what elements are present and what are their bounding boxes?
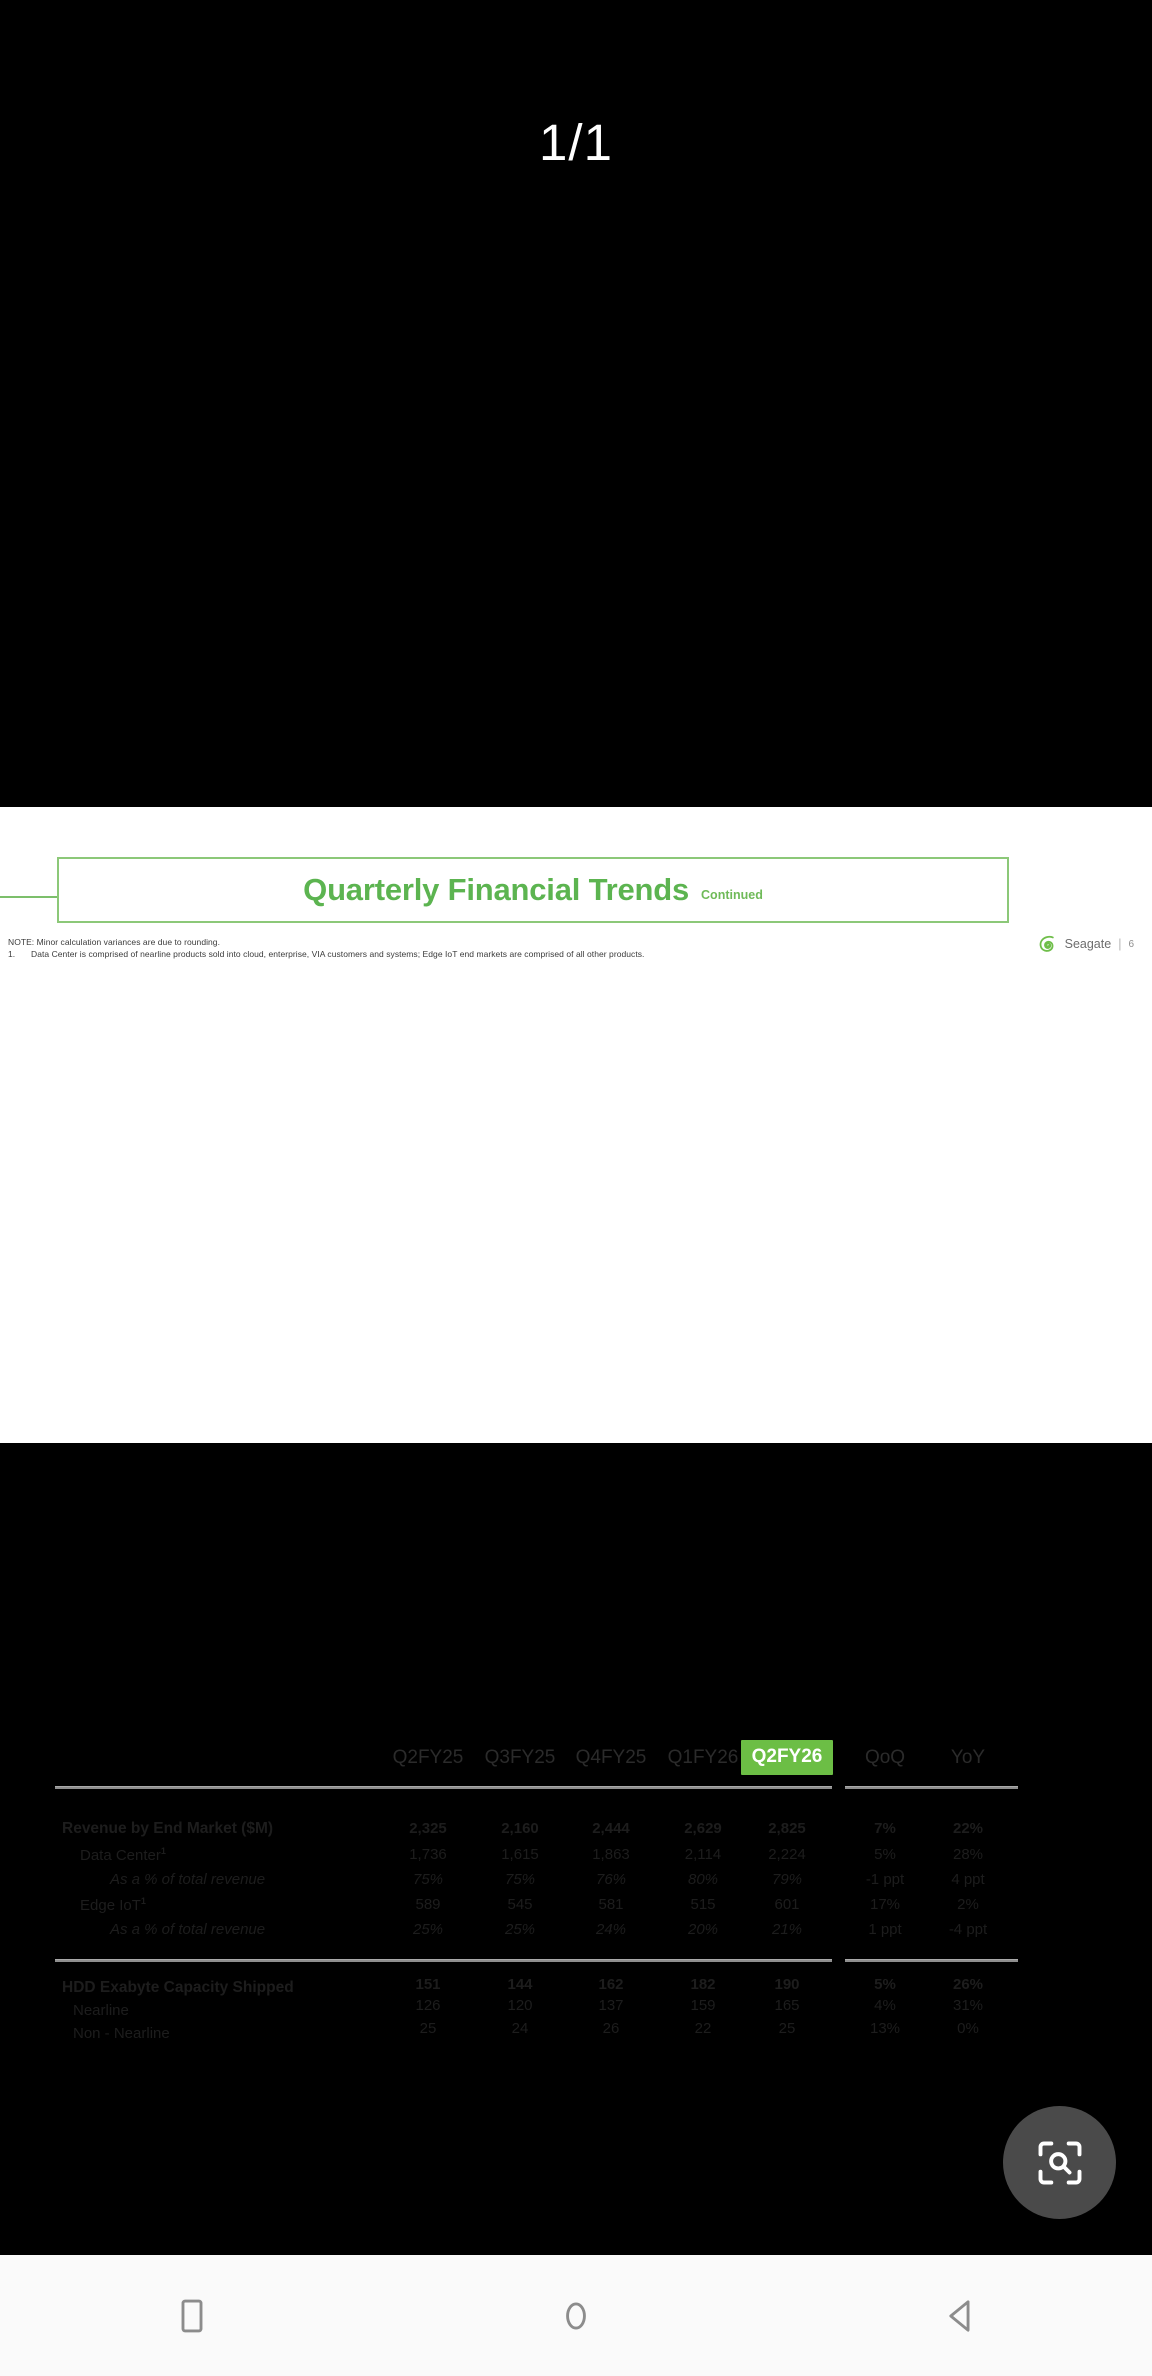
row-label-dc-pct-of-revenue: As a % of total revenue — [110, 1871, 265, 1888]
cell-non-nearline-qoq: 13% — [845, 2020, 925, 2037]
column-header-q2fy26: Q2FY26 — [741, 1740, 833, 1775]
brand-name: Seagate — [1065, 937, 1112, 951]
row-label-iot-pct-of-revenue: As a % of total revenue — [110, 1921, 265, 1938]
cell-iot-pct-q3fy25: 25% — [477, 1921, 563, 1938]
row-label-edge-iot: Edge IoT1 — [80, 1896, 146, 1914]
cell-nearline-q4fy25: 137 — [568, 1997, 654, 2014]
brand-footer: Seagate | 6 — [1036, 933, 1134, 955]
cell-iot-pct-q4fy25: 24% — [568, 1921, 654, 1938]
cell-data-center-q4fy25: 1,863 — [568, 1846, 654, 1863]
footnote-text: Data Center is comprised of nearline pro… — [31, 949, 644, 959]
slide-page[interactable]: Quarterly Financial Trends Continued Q2F… — [0, 807, 1152, 1443]
cell-non-nearline-q2fy25: 25 — [385, 2020, 471, 2037]
header-rule-left — [55, 1786, 832, 1789]
cell-edge-iot-yoy: 2% — [928, 1896, 1008, 1913]
cell-non-nearline-yoy: 0% — [928, 2020, 1008, 2037]
column-header-q3fy25: Q3FY25 — [477, 1747, 563, 1769]
footnote-marker-2: 1 — [141, 1896, 146, 1906]
column-header-yoy: YoY — [928, 1747, 1008, 1769]
financial-table: Q2FY25 Q3FY25 Q4FY25 Q1FY26 Q2FY26 QoQ Y… — [0, 807, 1152, 1443]
row-label-non-nearline: Non - Nearline — [73, 2025, 170, 2042]
cell-hdd-q2fy25: 151 — [385, 1976, 471, 1993]
row-label-revenue-by-end-market: Revenue by End Market ($M) — [62, 1820, 273, 1838]
cell-dc-pct-q1fy26: 80% — [660, 1871, 746, 1888]
cell-hdd-q1fy26: 182 — [660, 1976, 746, 1993]
cell-nearline-yoy: 31% — [928, 1997, 1008, 2014]
cell-nearline-q2fy26: 165 — [741, 1997, 833, 2014]
slide-page-number: 6 — [1128, 939, 1134, 950]
cell-nearline-qoq: 4% — [845, 1997, 925, 2014]
cell-iot-pct-q2fy25: 25% — [385, 1921, 471, 1938]
cell-non-nearline-q1fy26: 22 — [660, 2020, 746, 2037]
footnote-marker-1: 1 — [161, 1846, 166, 1856]
section-rule-left — [55, 1959, 832, 1962]
row-label-nearline: Nearline — [73, 2002, 129, 2019]
cell-hdd-yoy: 26% — [928, 1976, 1008, 1993]
nav-back-button[interactable] — [880, 2255, 1040, 2376]
column-header-qoq: QoQ — [845, 1747, 925, 1769]
cell-data-center-q3fy25: 1,615 — [477, 1846, 563, 1863]
header-rule-right — [845, 1786, 1018, 1789]
cell-iot-pct-qoq: 1 ppt — [845, 1921, 925, 1938]
cell-hdd-q2fy26: 190 — [741, 1976, 833, 1993]
square-recents-icon — [169, 2293, 215, 2339]
nav-recents-button[interactable] — [112, 2255, 272, 2376]
android-navigation-bar[interactable] — [0, 2255, 1152, 2376]
cell-non-nearline-q2fy26: 25 — [741, 2020, 833, 2037]
triangle-back-icon — [937, 2293, 983, 2339]
row-label-hdd-exabyte-capacity: HDD Exabyte Capacity Shipped — [62, 1979, 294, 1997]
nav-home-button[interactable] — [496, 2255, 656, 2376]
cell-hdd-q4fy25: 162 — [568, 1976, 654, 1993]
cell-revenue-q4fy25: 2,444 — [568, 1820, 654, 1837]
cell-revenue-yoy: 22% — [928, 1820, 1008, 1837]
zoom-fab-button[interactable] — [1003, 2106, 1116, 2219]
footnote-number: 1. — [8, 949, 15, 959]
cell-revenue-qoq: 7% — [845, 1820, 925, 1837]
cell-nearline-q2fy25: 126 — [385, 1997, 471, 2014]
circle-home-icon — [553, 2293, 599, 2339]
cell-data-center-qoq: 5% — [845, 1846, 925, 1863]
row-label-data-center-text: Data Center — [80, 1847, 161, 1864]
cell-hdd-q3fy25: 144 — [477, 1976, 563, 1993]
column-header-q1fy26: Q1FY26 — [660, 1747, 746, 1769]
brand-separator: | — [1118, 937, 1121, 951]
cell-data-center-q2fy25: 1,736 — [385, 1846, 471, 1863]
cell-data-center-q2fy26: 2,224 — [741, 1846, 833, 1863]
cell-edge-iot-q4fy25: 581 — [568, 1896, 654, 1913]
cell-hdd-qoq: 5% — [845, 1976, 925, 1993]
scan-zoom-icon — [1034, 2137, 1086, 2189]
cell-edge-iot-q3fy25: 545 — [477, 1896, 563, 1913]
column-header-q4fy25: Q4FY25 — [568, 1747, 654, 1769]
cell-revenue-q1fy26: 2,629 — [660, 1820, 746, 1837]
cell-dc-pct-q4fy25: 76% — [568, 1871, 654, 1888]
cell-dc-pct-yoy: 4 ppt — [928, 1871, 1008, 1888]
cell-iot-pct-q1fy26: 20% — [660, 1921, 746, 1938]
cell-non-nearline-q3fy25: 24 — [477, 2020, 563, 2037]
cell-iot-pct-q2fy26: 21% — [741, 1921, 833, 1938]
cell-non-nearline-q4fy25: 26 — [568, 2020, 654, 2037]
cell-dc-pct-qoq: -1 ppt — [845, 1871, 925, 1888]
cell-revenue-q2fy26: 2,825 — [741, 1820, 833, 1837]
row-label-edge-iot-text: Edge IoT — [80, 1897, 141, 1914]
cell-nearline-q1fy26: 159 — [660, 1997, 746, 2014]
cell-edge-iot-q2fy26: 601 — [741, 1896, 833, 1913]
cell-data-center-yoy: 28% — [928, 1846, 1008, 1863]
document-viewer[interactable]: 1/1 Quarterly Financial Trends Continued… — [0, 0, 1152, 2255]
row-label-data-center: Data Center1 — [80, 1846, 166, 1864]
page-counter: 1/1 — [0, 117, 1152, 168]
cell-edge-iot-q2fy25: 589 — [385, 1896, 471, 1913]
cell-iot-pct-yoy: -4 ppt — [928, 1921, 1008, 1938]
cell-dc-pct-q3fy25: 75% — [477, 1871, 563, 1888]
footer-note: NOTE: Minor calculation variances are du… — [8, 937, 220, 947]
cell-revenue-q2fy25: 2,325 — [385, 1820, 471, 1837]
section-rule-right — [845, 1959, 1018, 1962]
cell-dc-pct-q2fy26: 79% — [741, 1871, 833, 1888]
seagate-logo-icon — [1036, 933, 1058, 955]
cell-edge-iot-q1fy26: 515 — [660, 1896, 746, 1913]
cell-revenue-q3fy25: 2,160 — [477, 1820, 563, 1837]
cell-edge-iot-qoq: 17% — [845, 1896, 925, 1913]
column-header-q2fy25: Q2FY25 — [385, 1747, 471, 1769]
cell-data-center-q1fy26: 2,114 — [660, 1846, 746, 1863]
cell-nearline-q3fy25: 120 — [477, 1997, 563, 2014]
cell-dc-pct-q2fy25: 75% — [385, 1871, 471, 1888]
